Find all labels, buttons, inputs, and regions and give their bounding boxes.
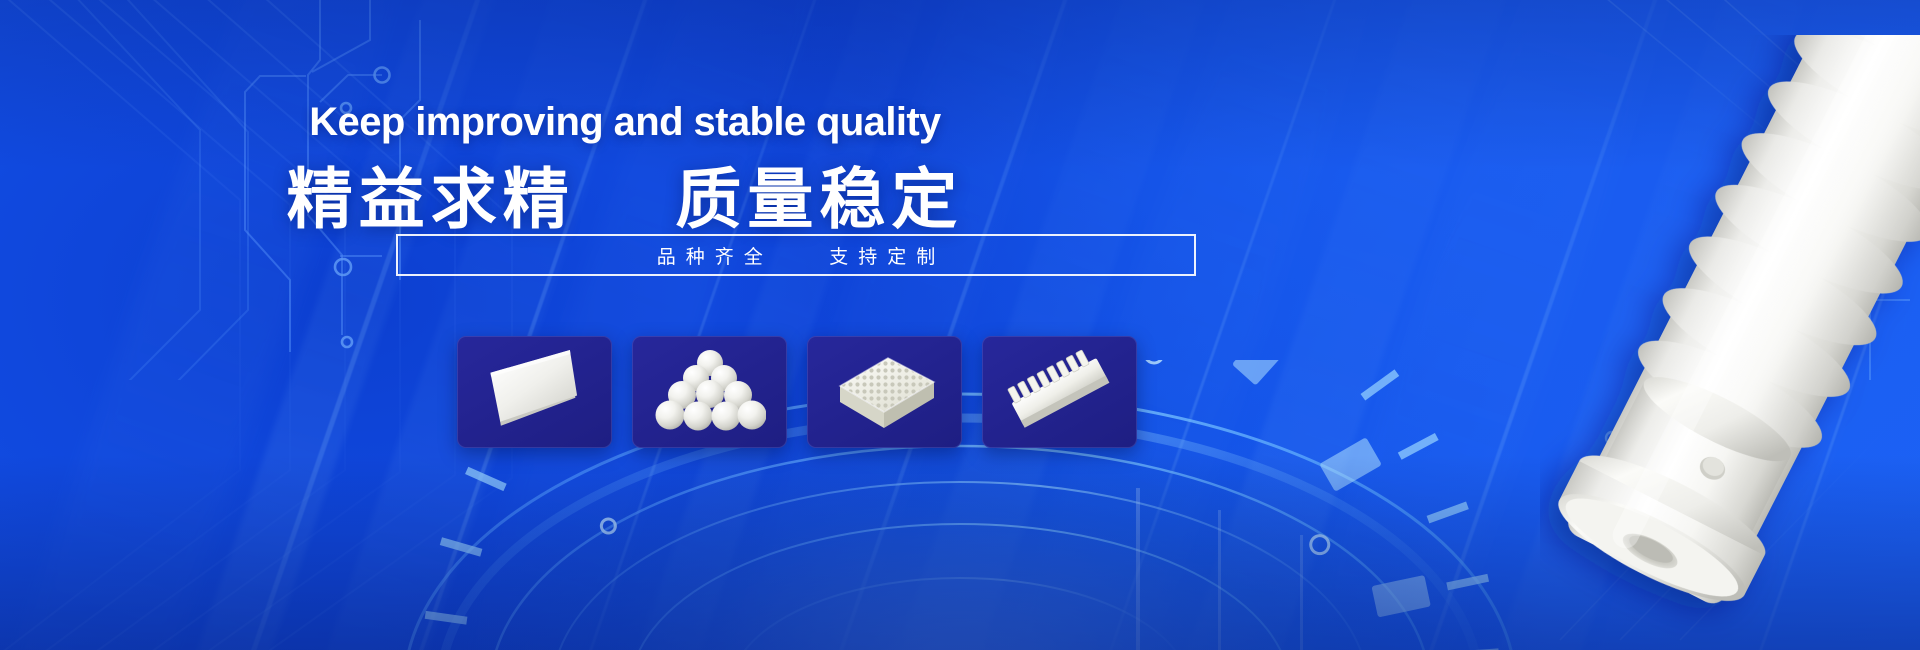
banner-eyebrow: Keep improving and stable quality — [0, 100, 1250, 145]
honeycomb-icon — [826, 346, 944, 438]
subtitle-right: 支持定制 — [829, 247, 945, 268]
title-left: 精益求精 — [287, 162, 575, 236]
banner-content: Keep improving and stable quality 精益求精 质… — [0, 0, 1250, 650]
product-card-honeycomb-block[interactable] — [807, 336, 962, 448]
comb-bar-icon — [1000, 347, 1120, 437]
sphere-stack-icon — [654, 347, 766, 437]
promo-banner: Keep improving and stable quality 精益求精 质… — [0, 0, 1920, 650]
square-tile-icon — [480, 346, 590, 438]
product-card-ribbed-bar[interactable] — [982, 336, 1137, 448]
product-card-ceramic-plate[interactable] — [457, 336, 612, 448]
product-card-ceramic-balls[interactable] — [632, 336, 787, 448]
subtitle-text: 品种齐全 支持定制 — [647, 242, 946, 269]
eyebrow-light: and stable quality — [614, 100, 941, 144]
page-title: 精益求精 质量稳定 — [0, 146, 1250, 242]
subtitle-bar: 品种齐全 支持定制 — [396, 234, 1196, 276]
title-right: 质量稳定 — [675, 162, 963, 236]
product-card-list — [457, 336, 1137, 448]
eyebrow-bold: Keep improving — [309, 100, 603, 144]
subtitle-left: 品种齐全 — [657, 247, 773, 268]
